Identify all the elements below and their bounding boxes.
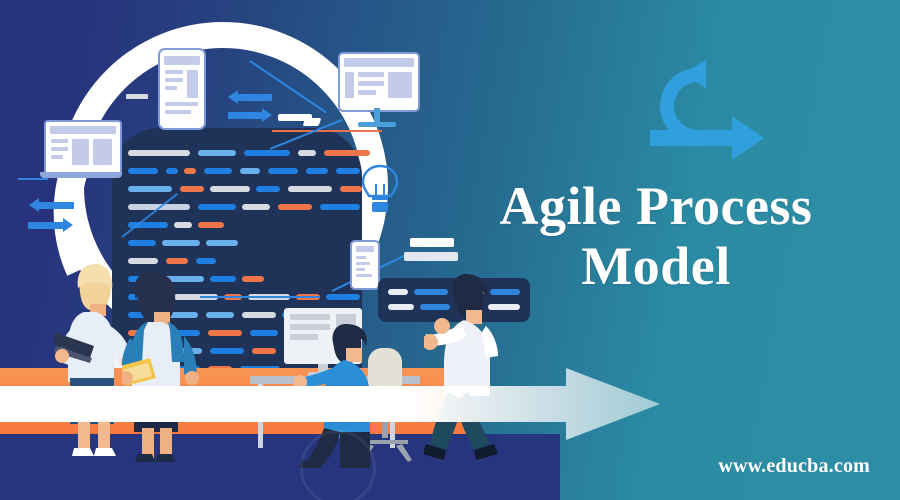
page-title-line-2: Model [436,236,876,296]
forward-progress-arrow [0,368,660,440]
agile-scrum-cycle-logo [636,52,766,172]
decorative-circle [300,430,376,500]
page-title-line-1: Agile Process [500,176,813,236]
site-watermark: www.educba.com [718,455,870,478]
mobile-icon [158,48,206,130]
lightbulb-icon [360,162,400,218]
sync-arrows-icon [228,92,272,126]
monitor-icon [338,52,416,128]
server-icon-top [278,114,320,126]
page-title: Agile Process Model [436,176,876,297]
tablet-icon [350,240,380,290]
banner-canvas: Agile Process Model www.educba.com [0,0,900,500]
laptop-icon [40,120,122,184]
sync-arrows-icon-left [28,200,74,236]
